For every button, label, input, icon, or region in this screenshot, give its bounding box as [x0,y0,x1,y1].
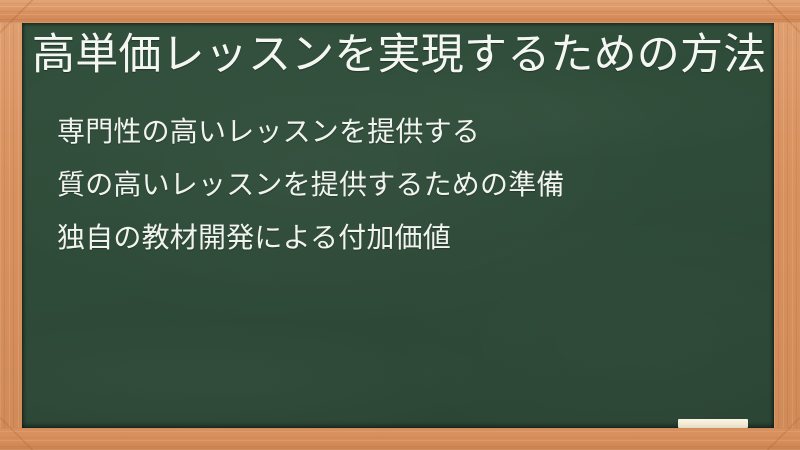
chalkboard-surface: 高単価レッスンを実現するための方法 専門性の高いレッスンを提供する 質の高いレッ… [22,23,774,428]
wooden-frame-top-rail [0,0,800,23]
slide-root: 高単価レッスンを実現するための方法 専門性の高いレッスンを提供する 質の高いレッ… [0,0,800,450]
list-item: 専門性の高いレッスンを提供する [57,105,757,158]
slide-bullet-list: 専門性の高いレッスンを提供する 質の高いレッスンを提供するための準備 独自の教材… [57,105,757,264]
list-item: 独自の教材開発による付加価値 [57,211,757,264]
wooden-frame-bottom-rail [0,428,800,450]
slide-title: 高単価レッスンを実現するための方法 [32,29,764,81]
chalk-stick-icon [678,419,748,428]
list-item: 質の高いレッスンを提供するための準備 [57,158,757,211]
